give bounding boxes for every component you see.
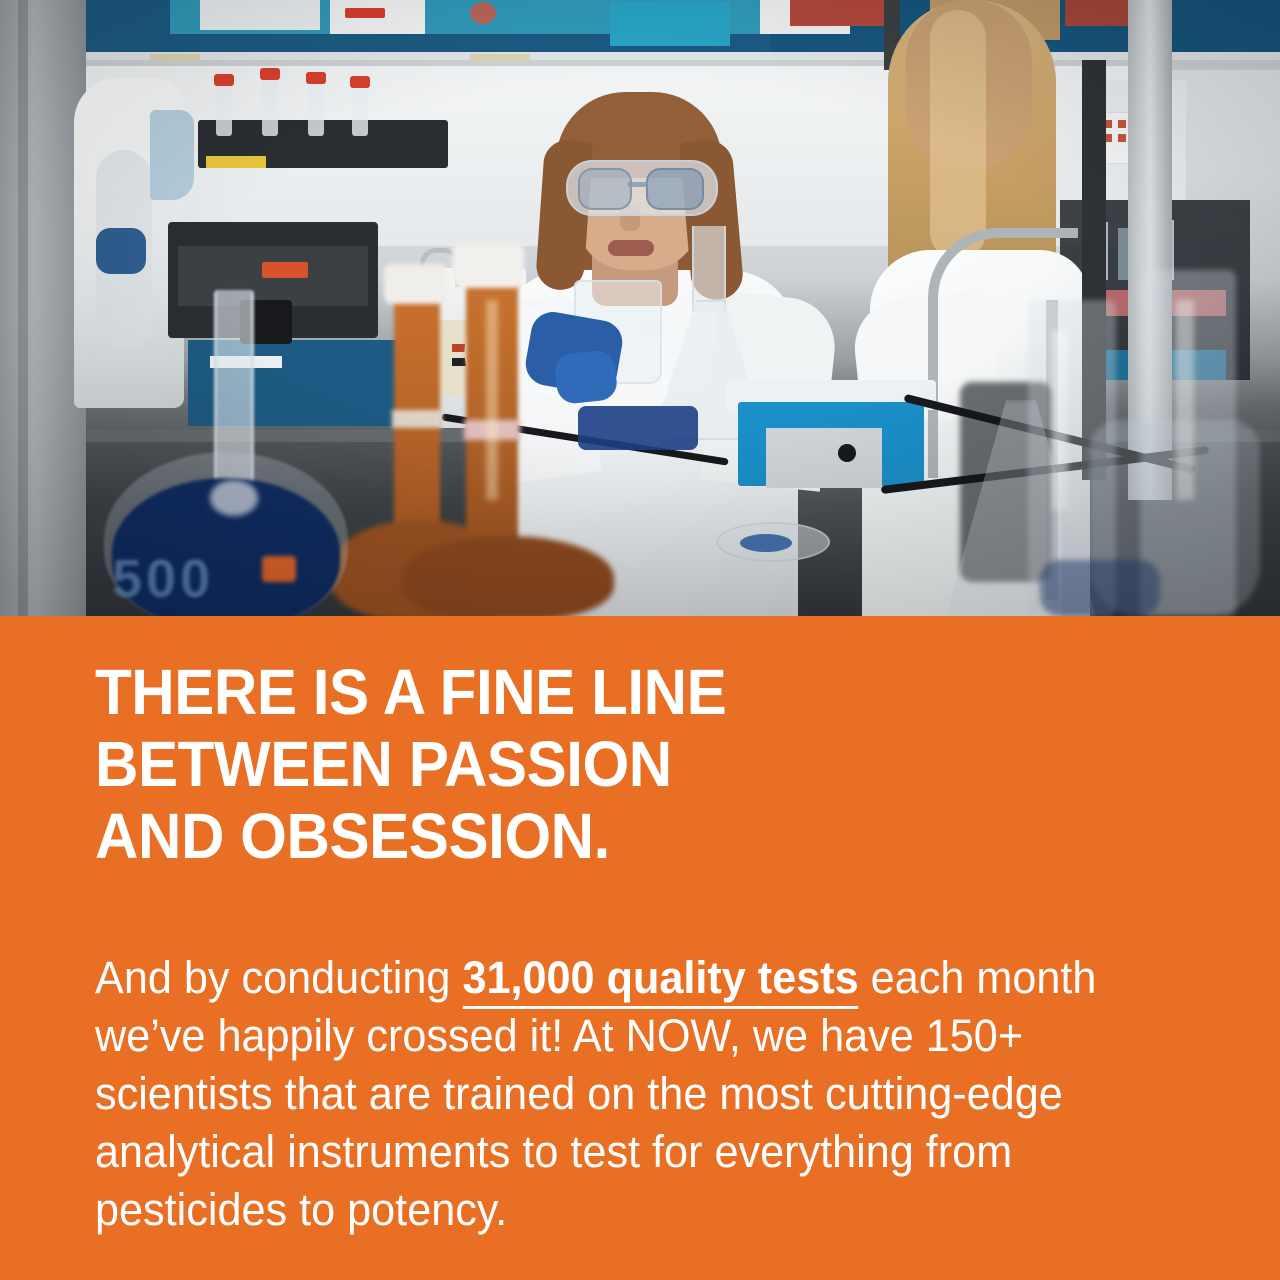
orange-content-panel: THERE IS A FINE LINE BETWEEN PASSION AND… (0, 616, 1280, 1280)
headline-line-1: THERE IS A FINE LINE (95, 656, 1129, 728)
page-title: THERE IS A FINE LINE BETWEEN PASSION AND… (95, 656, 1129, 872)
marketing-card: 500 THERE IS A FINE LINE BETWEEN PASSION… (0, 0, 1280, 1280)
body-paragraph: And by conducting 31,000 quality tests e… (95, 949, 1161, 1239)
headline-line-3: AND OBSESSION. (95, 800, 1129, 872)
photo-vignette (0, 0, 1280, 616)
emphasis-quality-tests: 31,000 quality tests (462, 952, 858, 1009)
body-text-before-emphasis: And by conducting (95, 952, 462, 1003)
lab-photo: 500 (0, 0, 1280, 616)
headline-line-2: BETWEEN PASSION (95, 728, 1129, 800)
